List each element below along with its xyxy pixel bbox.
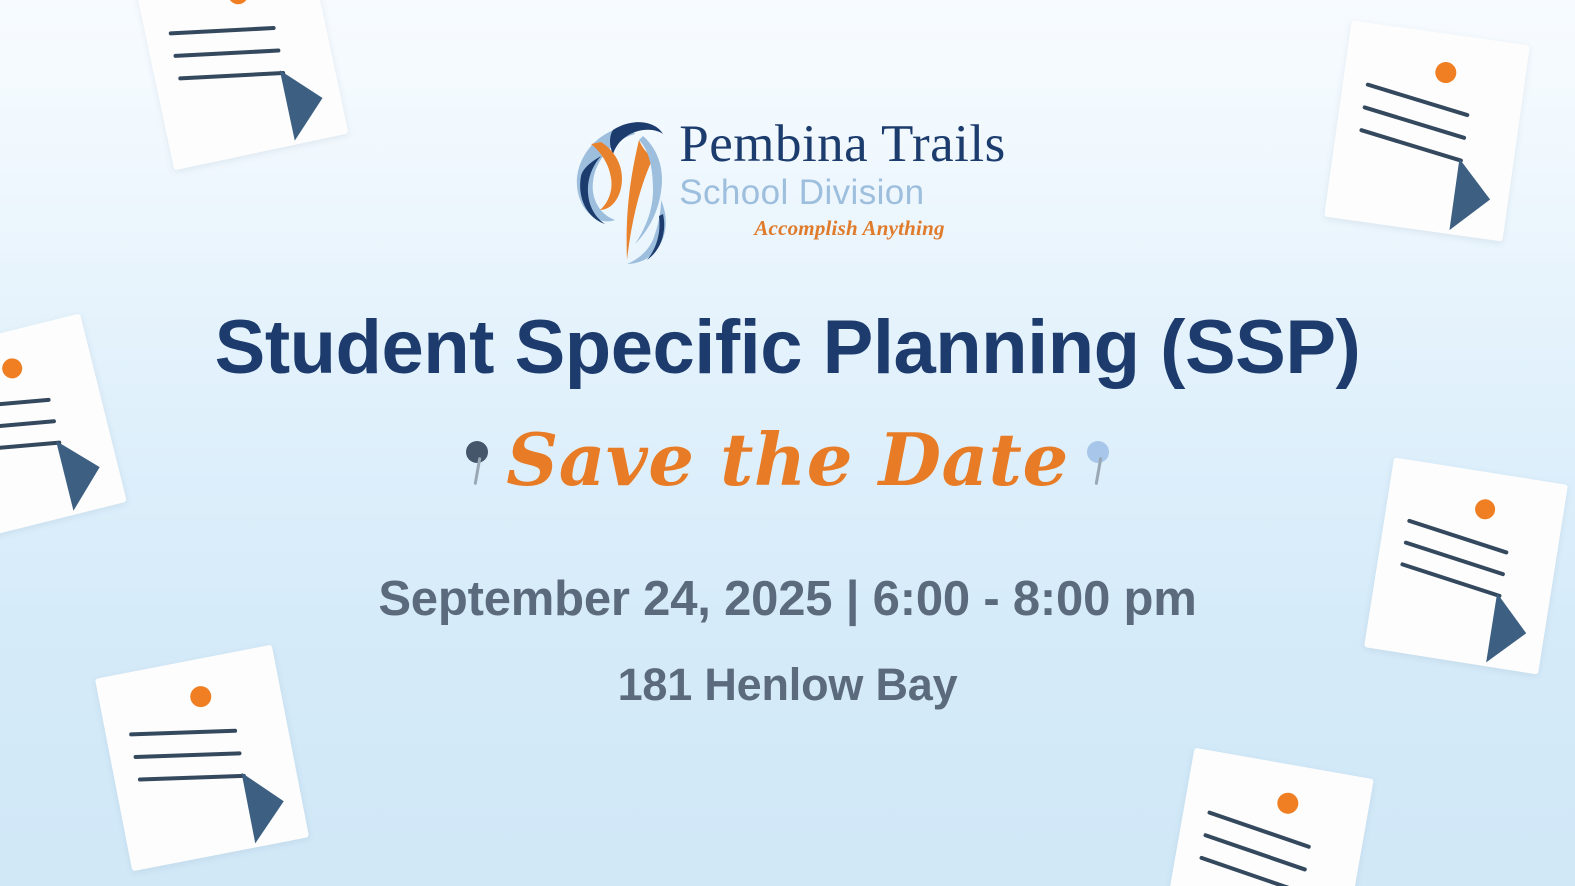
note-rule-line [138,774,246,782]
note-pin-dot-icon [1474,498,1497,521]
save-the-date-row: Save the Date [0,424,1575,496]
note-rule-line [178,71,285,81]
note-pin-dot-icon [226,0,250,6]
note-rule-line [1199,855,1303,886]
note-rule-line [173,48,280,58]
event-address: 181 Henlow Bay [0,662,1575,707]
page-title: Student Specific Planning (SSP) [0,310,1575,386]
note-rule-line [169,26,276,36]
pembina-trails-swoosh-mark-icon [569,114,673,266]
pembina-trails-logo: Pembina Trails School Division Accomplis… [0,112,1575,266]
note-rule-line [0,398,51,411]
pushpin-icon-right [1083,431,1113,489]
event-datetime: September 24, 2025 | 6:00 - 8:00 pm [0,575,1575,624]
note-folded-corner-icon [242,766,291,844]
note-rule-line [133,751,241,759]
save-the-date-poster: Pembina Trails School Division Accomplis… [0,0,1575,886]
logo-subtitle: School Division [679,173,924,212]
logo-title: Pembina Trails [679,118,1006,171]
note-pin-dot-icon [1434,61,1458,85]
logo-tagline: Accomplish Anything [740,216,944,241]
note-pin-dot-icon [1276,791,1300,815]
note-card-bottom-right [1160,748,1374,886]
note-rule-line [129,729,237,737]
pushpin-icon-left [462,431,492,489]
save-the-date-text: Save the Date [506,424,1069,496]
pushpin-head [1087,441,1109,463]
